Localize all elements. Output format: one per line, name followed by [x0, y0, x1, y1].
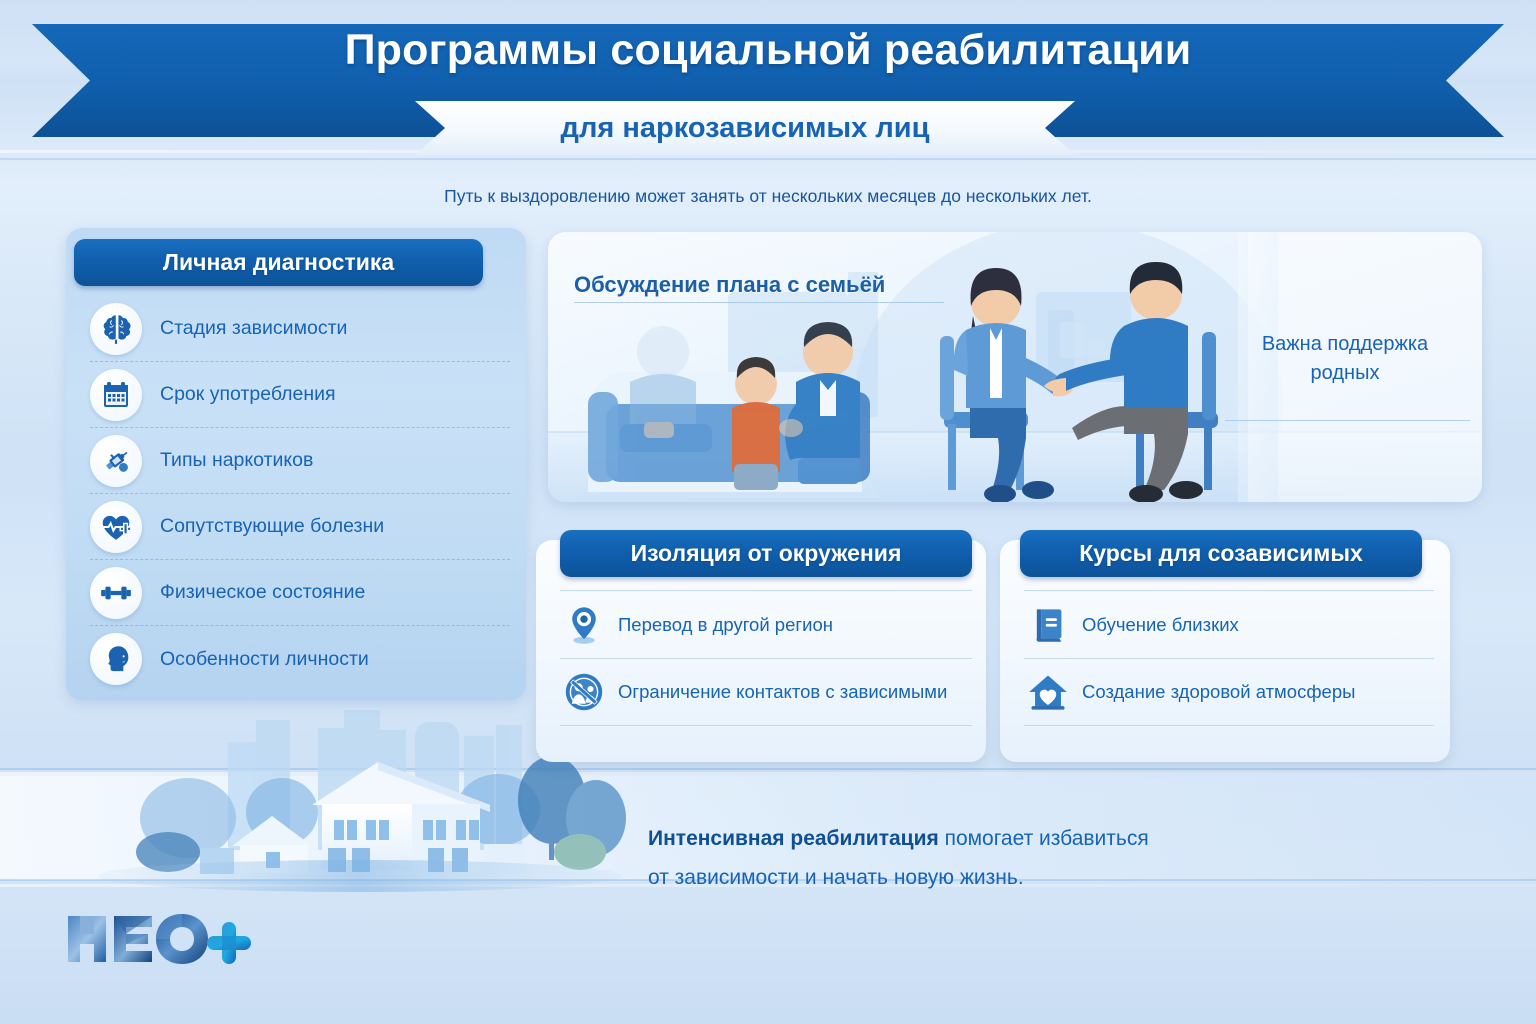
- list-item-label: Сопутствующие болезни: [160, 515, 384, 538]
- isolation-card-heading: Изоляция от окружения: [560, 530, 972, 577]
- list-item[interactable]: Создание здоровой атмосферы: [1024, 658, 1434, 726]
- list-item-label: Обучение близких: [1082, 614, 1239, 636]
- syringe-icon: [90, 435, 142, 487]
- brand-logo: [64, 908, 304, 972]
- closing-statement-rest: помогает избавиться: [939, 827, 1149, 850]
- intro-text: Путь к выздоровлению может занять от нес…: [0, 186, 1536, 207]
- brain-icon: [90, 303, 142, 355]
- location-pin-icon: [560, 601, 608, 649]
- closing-statement-line2: от зависимости и начать новую жизнь.: [648, 866, 1024, 889]
- page-title: Программы социальной реабилитации: [0, 26, 1536, 75]
- background-band: [0, 158, 1536, 160]
- support-caption: Важна поддержка родных: [1225, 330, 1465, 388]
- list-item-label: Ограничение контактов с зависимыми: [618, 681, 947, 703]
- list-item[interactable]: Типы наркотиков: [90, 428, 510, 494]
- list-item[interactable]: Ограничение контактов с зависимыми: [560, 658, 972, 726]
- list-item[interactable]: Обучение близких: [1024, 590, 1434, 658]
- heart-medical-icon: [90, 501, 142, 553]
- list-item[interactable]: Сопутствующие болезни: [90, 494, 510, 560]
- list-item[interactable]: Стадия зависимости: [90, 296, 510, 362]
- dumbbell-icon: [90, 567, 142, 619]
- codependent-courses-heading: Курсы для созависимых: [1020, 530, 1422, 577]
- head-profile-icon: [90, 633, 142, 685]
- calendar-icon: [90, 369, 142, 421]
- home-heart-icon: [1024, 668, 1072, 716]
- illustration-title-rule: [574, 302, 944, 303]
- list-item-label: Срок употребления: [160, 383, 336, 406]
- list-item[interactable]: Особенности личности: [90, 626, 510, 692]
- diagnostics-list: Стадия зависимости Срок употребления: [90, 296, 510, 692]
- support-caption-line1: Важна поддержка: [1262, 333, 1428, 355]
- page-subtitle: для наркозависимых лиц: [415, 104, 1075, 152]
- codependent-courses-list: Обучение близких Создание здоровой атмос…: [1024, 590, 1434, 726]
- list-item[interactable]: Физическое состояние: [90, 560, 510, 626]
- list-item-label: Физическое состояние: [160, 581, 365, 604]
- list-item-label: Перевод в другой регион: [618, 614, 833, 636]
- closing-statement-strong: Интенсивная реабилитация: [648, 827, 939, 850]
- no-contact-icon: [560, 668, 608, 716]
- list-item-label: Стадия зависимости: [160, 317, 347, 340]
- closing-statement: Интенсивная реабилитация помогает избави…: [648, 820, 1368, 898]
- support-caption-rule: [1225, 420, 1470, 421]
- support-caption-line2: родных: [1311, 362, 1380, 384]
- diagnostics-panel-heading: Личная диагностика: [74, 239, 483, 286]
- list-item-label: Особенности личности: [160, 648, 369, 671]
- illustration-title: Обсуждение плана с семьёй: [574, 272, 994, 298]
- list-item-label: Типы наркотиков: [160, 449, 313, 472]
- isolation-card-list: Перевод в другой регион Ограничение конт…: [560, 590, 972, 726]
- list-item[interactable]: Перевод в другой регион: [560, 590, 972, 658]
- list-item[interactable]: Срок употребления: [90, 362, 510, 428]
- book-icon: [1024, 601, 1072, 649]
- list-item-label: Создание здоровой атмосферы: [1082, 681, 1355, 703]
